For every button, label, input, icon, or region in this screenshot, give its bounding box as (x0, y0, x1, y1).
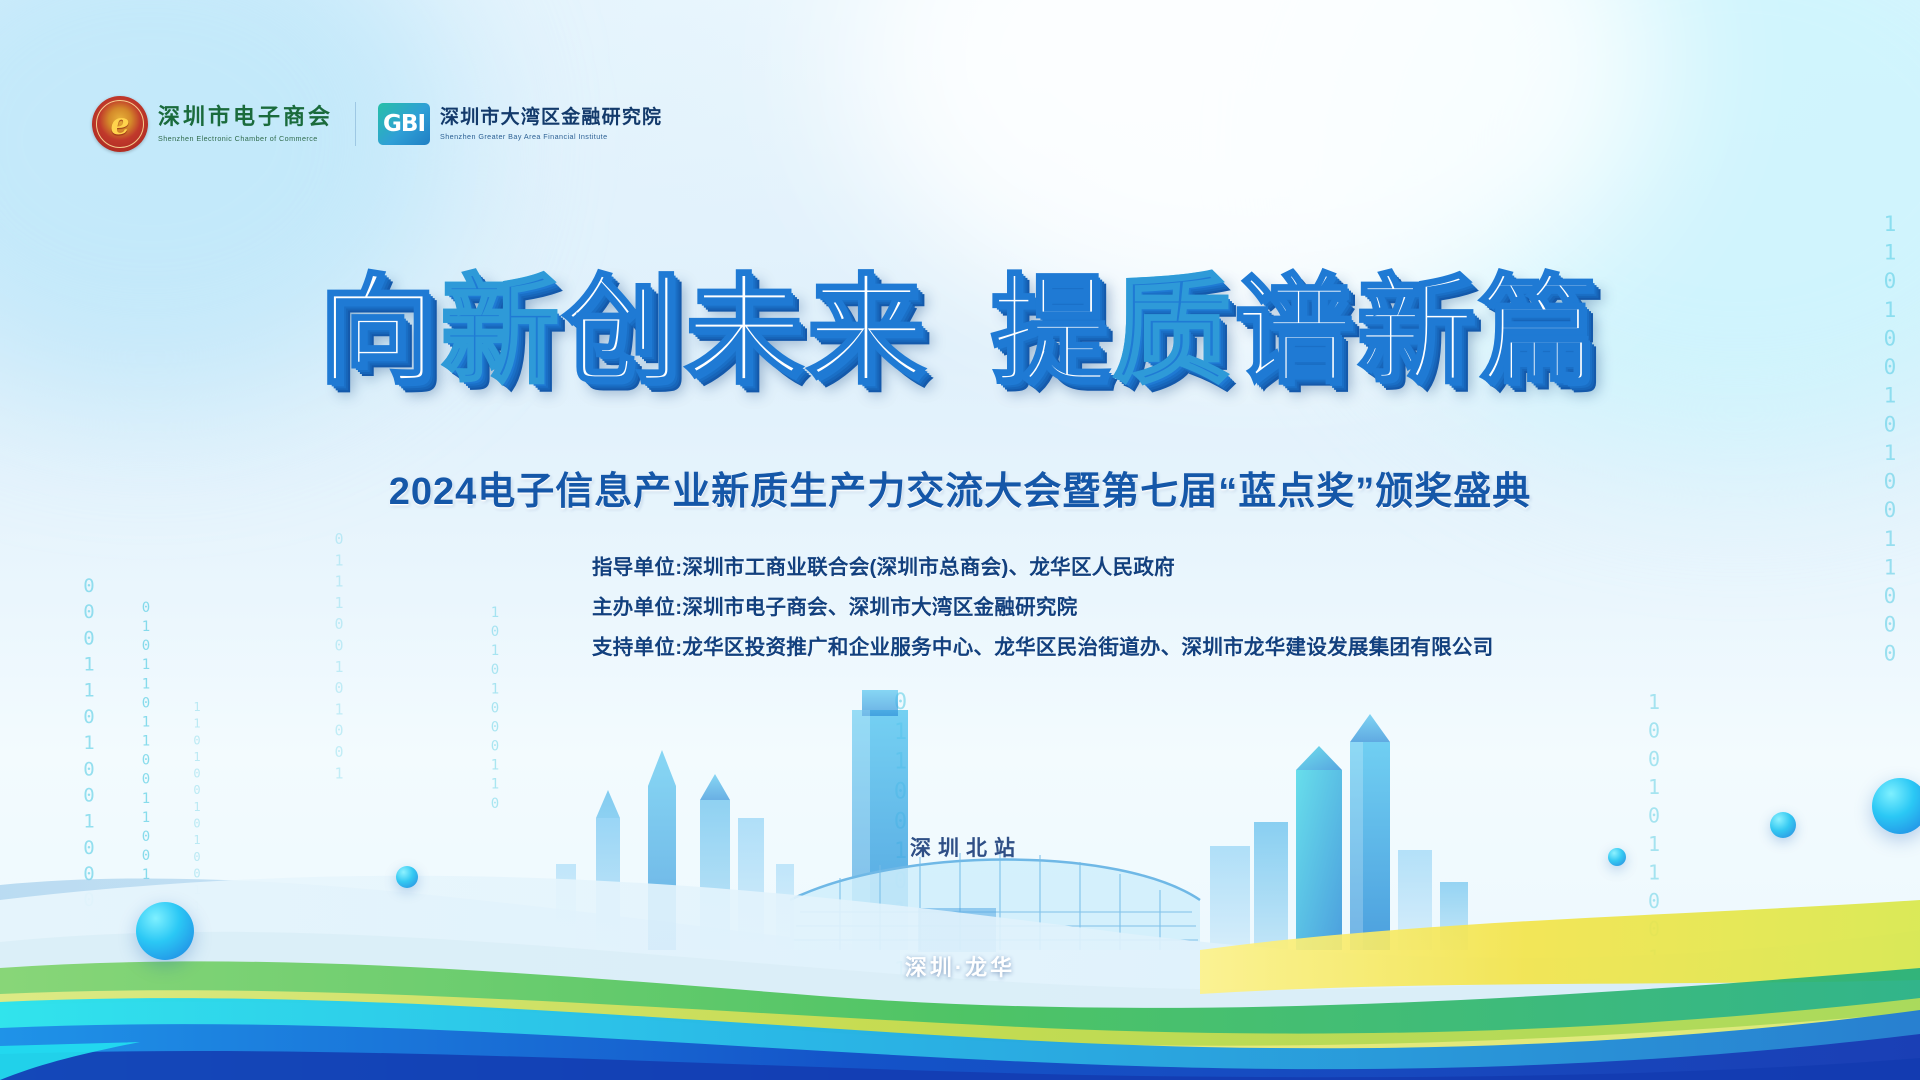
headline-char-6: 提 (991, 272, 1113, 390)
logo-1-name-en: Shenzhen Electronic Chamber of Commerce (158, 134, 326, 143)
city-label: 深圳·龙华 (0, 950, 1920, 982)
decorative-sphere-2 (396, 866, 418, 888)
headline-char-8: 谱 (1235, 272, 1357, 390)
city-scene: 深圳北站 (0, 650, 1920, 1080)
station-label: 深圳北站 (910, 832, 1022, 862)
seal-glyph: e (92, 96, 148, 152)
decorative-sphere-1 (136, 902, 194, 960)
headline-char-4: 未 (685, 272, 807, 390)
organizer-line-host: 主办单位:深圳市电子商会、深圳市大湾区金融研究院 (592, 588, 1494, 628)
headline-char-9: 新 (1357, 272, 1479, 390)
logo-2-name-cn: 深圳市大湾区金融研究院 (440, 107, 662, 129)
decorative-sphere-5 (1872, 778, 1920, 834)
poster-canvas: 0001101001000 010110110011001 1101001010… (0, 0, 1920, 1080)
decorative-sphere-3 (1608, 848, 1626, 866)
decorative-sphere-4 (1770, 812, 1796, 838)
logo-divider (355, 102, 356, 146)
headline-char-1: 向 (319, 272, 441, 390)
headline-char-3: 创 (563, 272, 685, 390)
logo-shenzhen-electronic-chamber: e 深圳市电子商会 Shenzhen Electronic Chamber of… (92, 96, 333, 152)
gbi-mark-icon: GBI (378, 103, 430, 145)
logo-gba-financial-institute: GBI 深圳市大湾区金融研究院 Shenzhen Greater Bay Are… (378, 103, 662, 145)
page-title: 向新创未来提质谱新篇 (0, 272, 1920, 390)
skyline-and-waves (0, 650, 1920, 1080)
chamber-seal-icon: e (92, 96, 148, 152)
organizer-line-guidance: 指导单位:深圳市工商业联合会(深圳市总商会)、龙华区人民政府 (592, 548, 1494, 588)
headline-char-5: 来 (807, 272, 929, 390)
logo-1-name-cn: 深圳市电子商会 (158, 105, 333, 130)
headline-char-7: 质 (1113, 272, 1235, 390)
event-subtitle: 2024电子信息产业新质生产力交流大会暨第七届“蓝点奖”颁奖盛典 (0, 460, 1920, 515)
logo-2-name-en: Shenzhen Greater Bay Area Financial Inst… (440, 132, 653, 141)
headline-char-2: 新 (441, 272, 563, 390)
headline-char-10: 篇 (1479, 272, 1601, 390)
logo-row: e 深圳市电子商会 Shenzhen Electronic Chamber of… (92, 96, 662, 152)
